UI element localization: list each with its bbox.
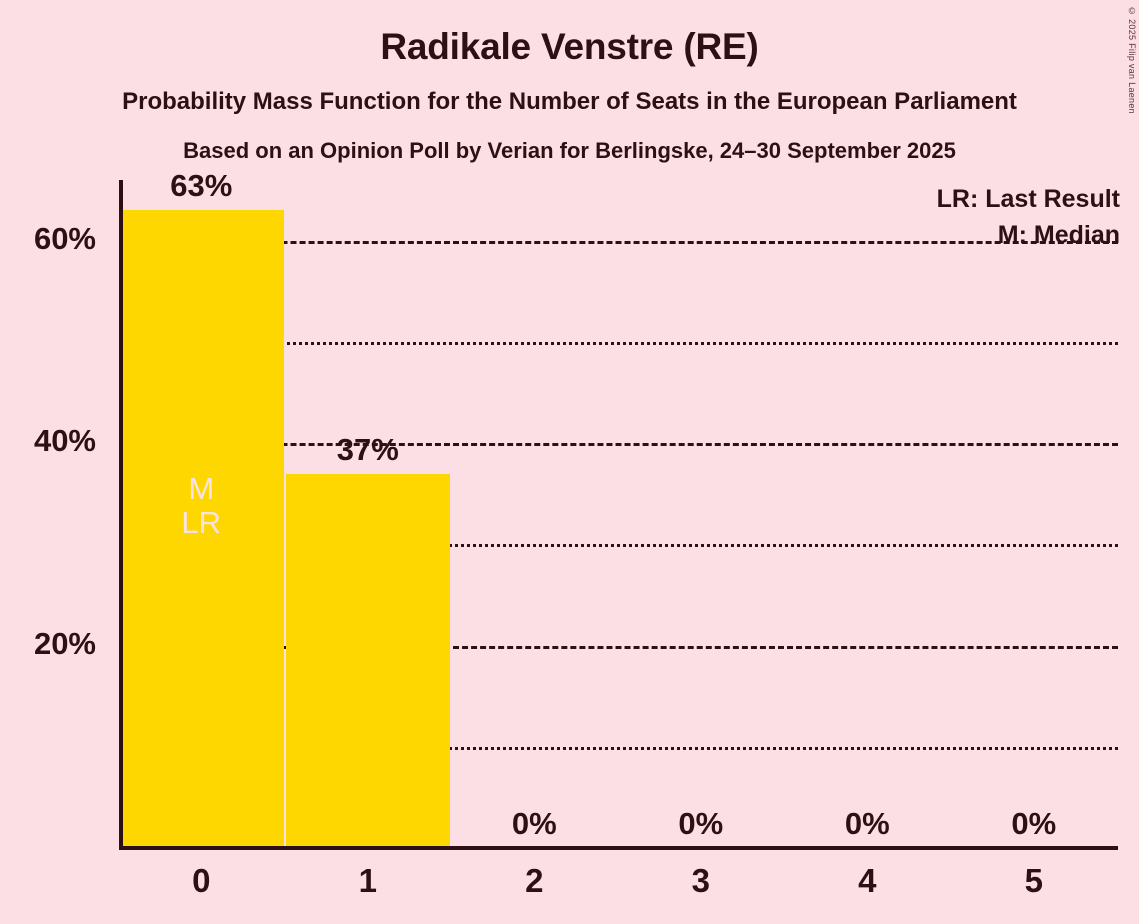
bar-value-label-2: 0% (452, 806, 617, 842)
x-tick-3: 3 (619, 862, 784, 900)
bar-seat-0[interactable] (119, 210, 284, 848)
x-tick-0: 0 (119, 862, 284, 900)
copyright-notice: © 2025 Filip van Laenen (1127, 6, 1137, 114)
x-tick-2: 2 (452, 862, 617, 900)
plot-area: MLR63%37%0%0%0%0% (119, 180, 1118, 848)
y-tick-40: 40% (0, 423, 96, 459)
y-axis-tick-labels: 20%40%60% (0, 0, 110, 924)
chart-subtitle: Probability Mass Function for the Number… (0, 88, 1139, 116)
bar-seat-1[interactable] (286, 474, 451, 848)
chart-container: Radikale Venstre (RE) Probability Mass F… (0, 0, 1139, 924)
bar-value-label-5: 0% (952, 806, 1117, 842)
x-axis-tick-labels: 012345 (119, 862, 1118, 912)
chart-source-note: Based on an Opinion Poll by Verian for B… (0, 138, 1139, 164)
x-axis-line (119, 846, 1118, 850)
x-tick-4: 4 (785, 862, 950, 900)
page-title: Radikale Venstre (RE) (0, 26, 1139, 68)
y-tick-20: 20% (0, 626, 96, 662)
bar-value-label-1: 37% (286, 432, 451, 468)
bar-value-label-3: 0% (619, 806, 784, 842)
bar-value-label-4: 0% (785, 806, 950, 842)
y-tick-60: 60% (0, 221, 96, 257)
y-axis-line (119, 180, 123, 850)
x-tick-5: 5 (952, 862, 1117, 900)
x-tick-1: 1 (286, 862, 451, 900)
bar-value-label-0: 63% (119, 168, 284, 204)
